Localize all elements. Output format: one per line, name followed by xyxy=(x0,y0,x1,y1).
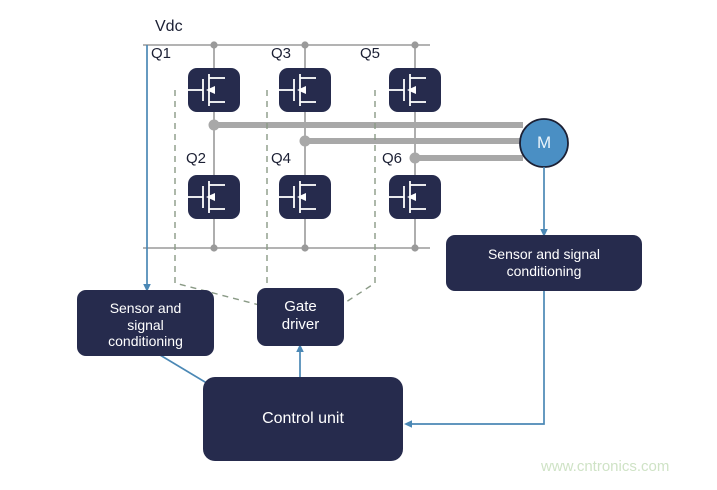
mosfet-q1 xyxy=(188,68,240,112)
transistor-label-q3: Q3 xyxy=(271,45,291,62)
node-dot xyxy=(210,41,217,48)
block-gate-driver[interactable] xyxy=(257,288,344,346)
transistor-label-q2: Q2 xyxy=(186,150,206,167)
watermark-text: www.cntronics.com xyxy=(541,458,669,475)
transistor-label-q6: Q6 xyxy=(382,150,402,167)
diagram-canvas: Vdc Q1 Q3 Q5 Q2 Q4 Q6 M Sensor and signa… xyxy=(0,0,717,490)
node-dot xyxy=(210,244,217,251)
arrow-sensor-right-to-control xyxy=(408,291,544,424)
block-sensor-left[interactable] xyxy=(77,290,214,356)
phase-lines xyxy=(209,120,524,164)
mosfet-q4 xyxy=(279,175,331,219)
mosfet-q3 xyxy=(279,68,331,112)
mosfet-q6 xyxy=(389,175,441,219)
transistor-label-q4: Q4 xyxy=(271,150,291,167)
transistor-label-q1: Q1 xyxy=(151,45,171,62)
phase-node-a xyxy=(209,120,220,131)
circuit-svg xyxy=(0,0,717,490)
node-dot xyxy=(301,244,308,251)
mosfet-q5 xyxy=(389,68,441,112)
motor-label: M xyxy=(537,133,551,153)
vdc-label: Vdc xyxy=(155,18,183,36)
arrow-sensor-left-to-control xyxy=(160,355,210,385)
node-dot xyxy=(301,41,308,48)
phase-node-c xyxy=(410,153,421,164)
block-control-unit[interactable] xyxy=(203,377,403,461)
transistor-label-q5: Q5 xyxy=(360,45,380,62)
phase-node-b xyxy=(300,136,311,147)
node-dot xyxy=(411,41,418,48)
node-dot xyxy=(411,244,418,251)
block-sensor-right[interactable] xyxy=(446,235,642,291)
mosfet-q2 xyxy=(188,175,240,219)
